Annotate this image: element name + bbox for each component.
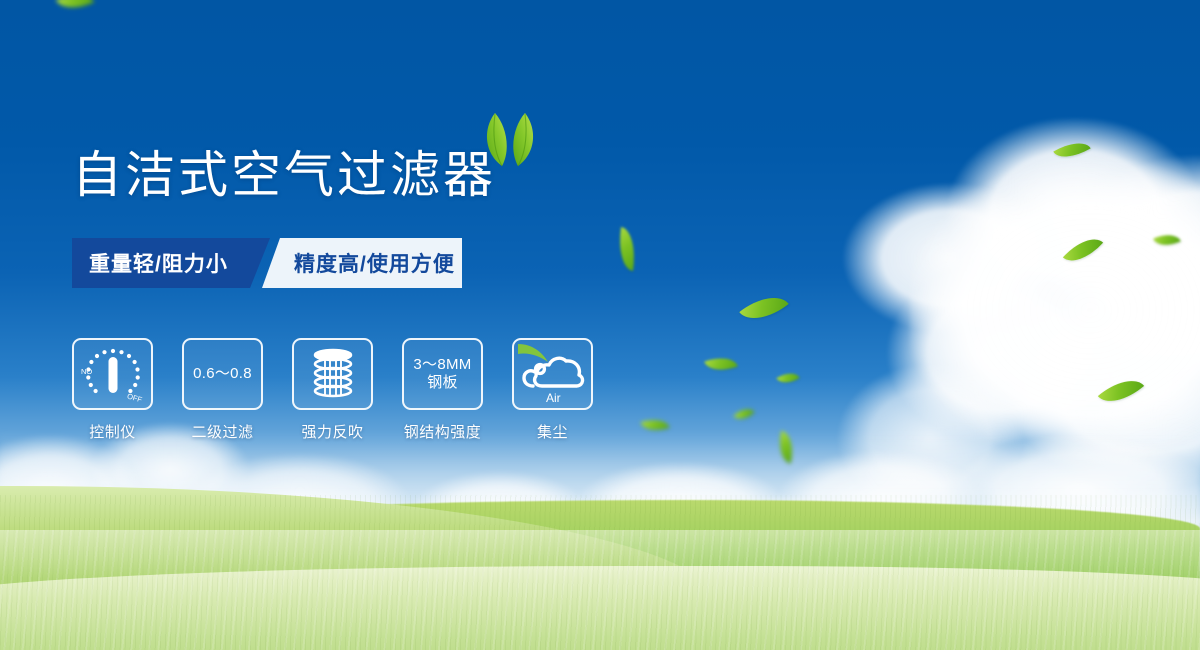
feature-item-controller[interactable]: NO OFF 控制仪 [72, 338, 153, 442]
subtitle-left-text: 重量轻/阻力小 [89, 248, 228, 278]
feature-label: 强力反吹 [292, 421, 373, 442]
subtitle-bar: 重量轻/阻力小 精度高/使用方便 [72, 238, 462, 288]
leaf-icon [776, 368, 799, 389]
gauge-icon: NO OFF [77, 343, 149, 405]
feature-icon-box: Air [512, 338, 593, 410]
feature-item-steel-strength[interactable]: 3～8MM 钢板 钢结构强度 [402, 338, 483, 442]
steel-plate-text-icon: 3～8MM 钢板 [413, 356, 471, 392]
air-label: Air [546, 391, 561, 405]
feature-icon-box [292, 338, 373, 410]
feature-item-secondary-filter[interactable]: 0.6～0.8 二级过滤 [182, 338, 263, 442]
feature-icon-box: 0.6～0.8 [182, 338, 263, 410]
leaf-icon [615, 227, 639, 271]
leaf-icon [704, 351, 738, 376]
feature-label: 控制仪 [72, 421, 153, 442]
feature-icon-box: NO OFF [72, 338, 153, 410]
feature-list: NO OFF 控制仪 0.6～0.8 二级过滤 [72, 338, 593, 442]
steel-material: 钢板 [413, 374, 471, 392]
pressure-value: 0.6～0.8 [193, 365, 252, 383]
feature-item-backblow[interactable]: 强力反吹 [292, 338, 373, 442]
hero-banner: 自洁式空气过滤器 重量轻/阻力小 精度高/使用方便 [0, 0, 1200, 650]
subtitle-right-text: 精度高/使用方便 [294, 248, 455, 278]
subtitle-right-panel: 精度高/使用方便 [262, 238, 462, 288]
gauge-no-label: NO [81, 367, 92, 376]
steel-thickness: 3～8MM [413, 356, 471, 374]
pressure-text-icon: 0.6～0.8 [193, 365, 252, 383]
feature-icon-box: 3～8MM 钢板 [402, 338, 483, 410]
leaf-icon [733, 403, 754, 424]
feature-label: 二级过滤 [182, 421, 263, 442]
feature-label: 集尘 [512, 421, 593, 442]
page-title: 自洁式空气过滤器 [72, 146, 496, 204]
gauge-off-label: OFF [126, 392, 143, 405]
feature-item-dust-collection[interactable]: Air 集尘 [512, 338, 593, 442]
subtitle-left-panel: 重量轻/阻力小 [72, 238, 270, 288]
cloud-air-icon: Air [518, 342, 588, 406]
filter-cartridge-icon [304, 345, 362, 403]
leaf-icon [739, 285, 788, 331]
leaf-icon [56, 0, 94, 16]
grass-sheen [0, 530, 1200, 650]
feature-label: 钢结构强度 [402, 421, 483, 442]
